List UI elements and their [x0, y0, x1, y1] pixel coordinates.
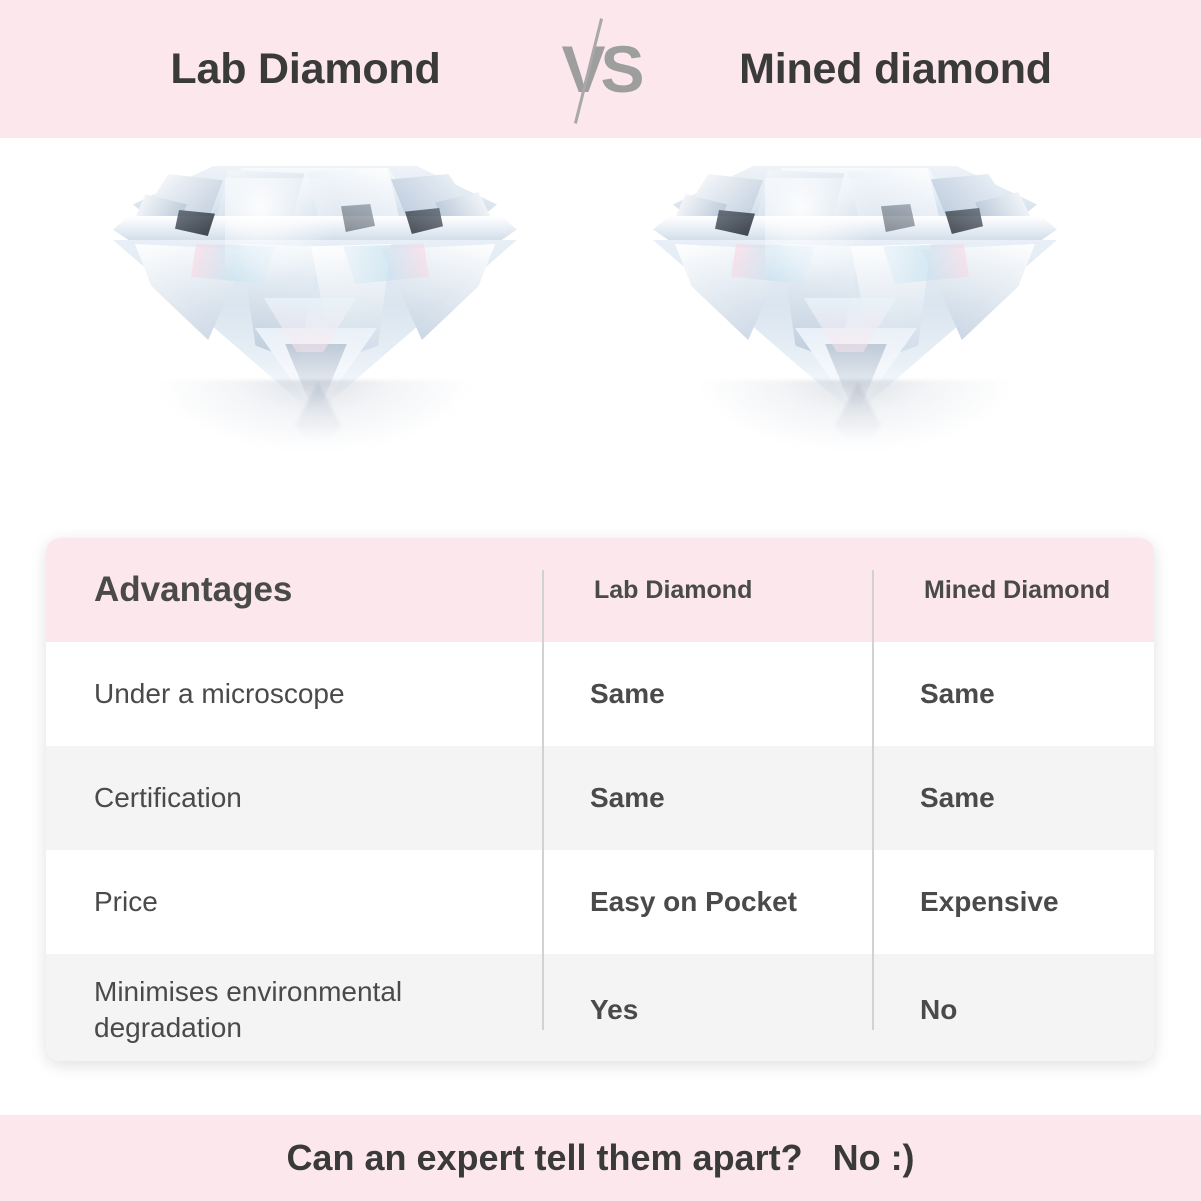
row-label-price: Price	[46, 850, 542, 954]
cell-mined-certification: Same	[872, 746, 1154, 850]
cell-lab-under-a-microscope: Same	[542, 642, 872, 746]
table-row: Minimises environmental degradation Yes …	[46, 954, 1154, 1061]
cell-mined-environmental: No	[872, 954, 1154, 1061]
header-right: Mined diamond	[661, 45, 1131, 94]
header-inner: Lab Diamond VS Mined diamond	[0, 0, 1201, 138]
mined-diamond-reflection	[700, 380, 1010, 450]
mined-diamond-gem-illustration	[645, 148, 1065, 408]
column-header-lab-diamond: Lab Diamond	[542, 538, 872, 642]
mined-diamond-photo	[645, 148, 1065, 478]
table-header: Advantages Lab Diamond Mined Diamond	[46, 538, 1154, 642]
table-row: Under a microscope Same Same	[46, 642, 1154, 746]
diamond-image-area	[0, 138, 1201, 528]
comparison-table: Advantages Lab Diamond Mined Diamond Und…	[46, 538, 1154, 1061]
table-row: Price Easy on Pocket Expensive	[46, 850, 1154, 954]
cell-lab-environmental: Yes	[542, 954, 872, 1061]
row-label-minimises-environmental-degradation: Minimises environmental degradation	[46, 954, 542, 1061]
cell-lab-certification: Same	[542, 746, 872, 850]
header-band: Lab Diamond VS Mined diamond	[0, 0, 1201, 138]
comparison-table-card: Advantages Lab Diamond Mined Diamond Und…	[46, 538, 1154, 1061]
row-label-certification: Certification	[46, 746, 542, 850]
vs-label: VS	[561, 36, 639, 102]
mined-diamond-title: Mined diamond	[739, 45, 1052, 93]
lab-diamond-reflection	[160, 380, 470, 450]
vs-badge: VS	[541, 9, 661, 129]
cell-mined-under-a-microscope: Same	[872, 642, 1154, 746]
cell-mined-price: Expensive	[872, 850, 1154, 954]
column-header-mined-diamond: Mined Diamond	[872, 538, 1154, 642]
cell-lab-price: Easy on Pocket	[542, 850, 872, 954]
table-header-row: Advantages Lab Diamond Mined Diamond	[46, 538, 1154, 642]
row-label-under-a-microscope: Under a microscope	[46, 642, 542, 746]
lab-diamond-photo	[105, 148, 525, 478]
table-body: Under a microscope Same Same Certificati…	[46, 642, 1154, 1061]
header-left: Lab Diamond	[71, 45, 541, 94]
footer-question: Can an expert tell them apart? No :)	[286, 1137, 914, 1179]
column-header-advantages: Advantages	[46, 538, 542, 642]
lab-diamond-title: Lab Diamond	[170, 45, 440, 93]
lab-diamond-gem-illustration	[105, 148, 525, 408]
table-row: Certification Same Same	[46, 746, 1154, 850]
footer-band: Can an expert tell them apart? No :)	[0, 1115, 1201, 1201]
